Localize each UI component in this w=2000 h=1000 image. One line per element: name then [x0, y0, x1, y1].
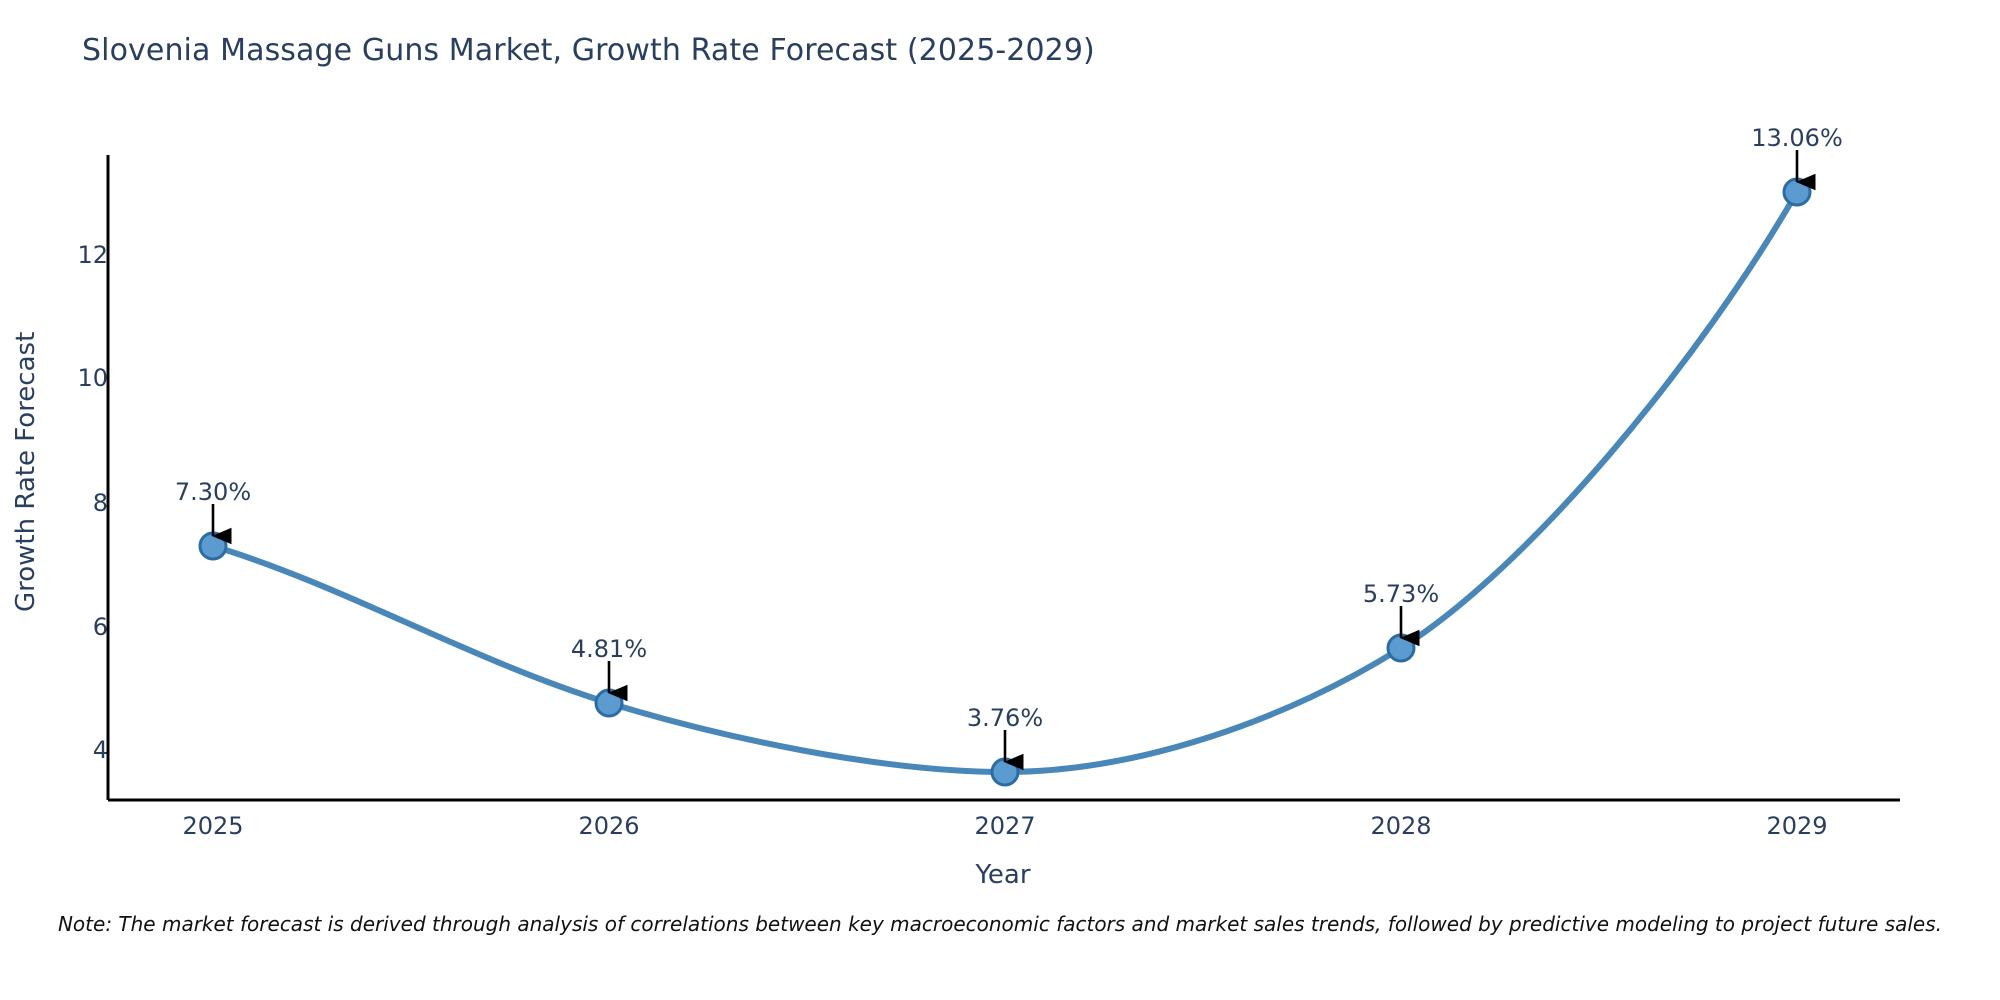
- data-point-2026[interactable]: [596, 690, 622, 716]
- data-point-2029[interactable]: [1784, 179, 1810, 205]
- data-label-2029: 13.06%: [1751, 124, 1843, 152]
- chart-footnote: Note: The market forecast is derived thr…: [0, 912, 2000, 936]
- data-point-2028[interactable]: [1388, 635, 1414, 661]
- data-label-2027: 3.76%: [967, 704, 1043, 732]
- data-label-2028: 5.73%: [1363, 580, 1439, 608]
- data-point-2025[interactable]: [200, 533, 226, 559]
- data-label-2026: 4.81%: [571, 635, 647, 663]
- data-label-2025: 7.30%: [175, 478, 251, 506]
- chart-container: Slovenia Massage Guns Market, Growth Rat…: [0, 0, 2000, 1000]
- series-line-growth-rate: [213, 192, 1797, 772]
- chart-plot-area: [0, 0, 2000, 1000]
- data-point-2027[interactable]: [992, 759, 1018, 785]
